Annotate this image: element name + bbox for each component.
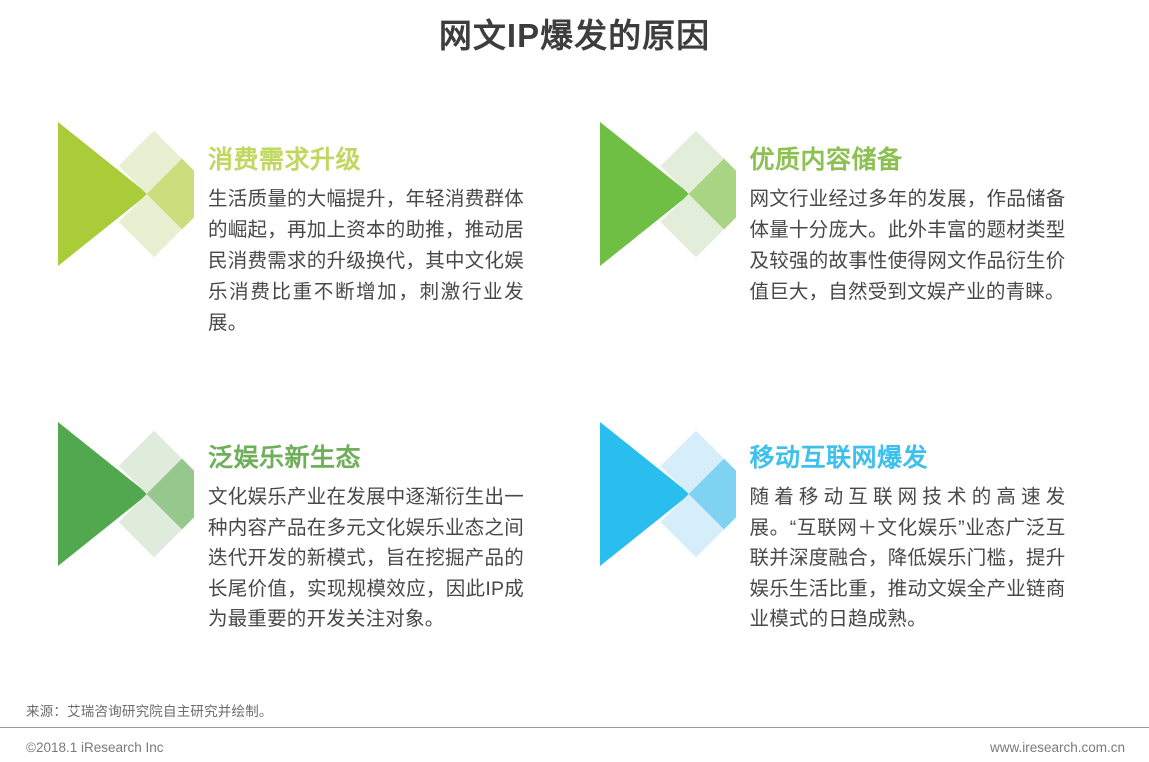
triangle-shape xyxy=(600,422,690,566)
card-text-block: 移动互联网爆发 随着移动互联网技术的高速发展。“互联网＋文化娱乐”业态广泛互联并… xyxy=(736,412,1066,635)
card-pan-entertainment-ecosystem: 泛娱乐新生态 文化娱乐产业在发展中逐渐衍生出一种内容产品在多元文化娱乐业态之间迭… xyxy=(52,400,556,685)
card-quality-content-reserve: 优质内容储备 网文行业经过多年的发展，作品储备体量十分庞大。此外丰富的题材类型及… xyxy=(594,100,1098,400)
triangle-shape xyxy=(58,122,148,266)
card-body: 随着移动互联网技术的高速发展。“互联网＋文化娱乐”业态广泛互联并深度融合，降低娱… xyxy=(750,482,1066,635)
page-title: 网文IP爆发的原因 xyxy=(0,10,1149,62)
footer-divider xyxy=(0,727,1149,728)
card-mobile-internet-explosion: 移动互联网爆发 随着移动互联网技术的高速发展。“互联网＋文化娱乐”业态广泛互联并… xyxy=(594,400,1098,685)
triangle-shape xyxy=(58,422,148,566)
card-body: 文化娱乐产业在发展中逐渐衍生出一种内容产品在多元文化娱乐业态之间迭代开发的新模式… xyxy=(208,482,524,635)
card-text-block: 泛娱乐新生态 文化娱乐产业在发展中逐渐衍生出一种内容产品在多元文化娱乐业态之间迭… xyxy=(194,412,524,635)
copyright-text: ©2018.1 iResearch Inc xyxy=(26,740,164,755)
play-triangle-diamonds-icon xyxy=(52,414,194,574)
triangle-shape xyxy=(600,122,690,266)
card-heading: 消费需求升级 xyxy=(208,144,524,176)
card-text-block: 消费需求升级 生活质量的大幅提升，年轻消费群体的崛起，再加上资本的助推，推动居民… xyxy=(194,112,524,339)
card-heading: 泛娱乐新生态 xyxy=(208,442,524,474)
play-triangle-diamonds-icon xyxy=(594,114,736,274)
play-triangle-diamonds-icon xyxy=(52,114,194,274)
card-consumer-demand-upgrade: 消费需求升级 生活质量的大幅提升，年轻消费群体的崛起，再加上资本的助推，推动居民… xyxy=(52,100,556,400)
card-body: 生活质量的大幅提升，年轻消费群体的崛起，再加上资本的助推，推动居民消费需求的升级… xyxy=(208,184,524,339)
card-body: 网文行业经过多年的发展，作品储备体量十分庞大。此外丰富的题材类型及较强的故事性使… xyxy=(750,184,1066,308)
play-triangle-diamonds-icon xyxy=(594,414,736,574)
website-url: www.iresearch.com.cn xyxy=(990,740,1125,755)
cards-grid: 消费需求升级 生活质量的大幅提升，年轻消费群体的崛起，再加上资本的助推，推动居民… xyxy=(52,100,1097,685)
infographic-page: 网文IP爆发的原因 消费需求升级 生活质量的大幅提升，年轻消费群体的崛起，再加上… xyxy=(0,0,1149,762)
card-heading: 移动互联网爆发 xyxy=(750,442,1066,474)
source-note: 来源：艾瑞咨询研究院自主研究并绘制。 xyxy=(26,700,273,720)
card-text-block: 优质内容储备 网文行业经过多年的发展，作品储备体量十分庞大。此外丰富的题材类型及… xyxy=(736,112,1066,308)
title-bar: 网文IP爆发的原因 xyxy=(0,0,1149,72)
card-heading: 优质内容储备 xyxy=(750,144,1066,176)
